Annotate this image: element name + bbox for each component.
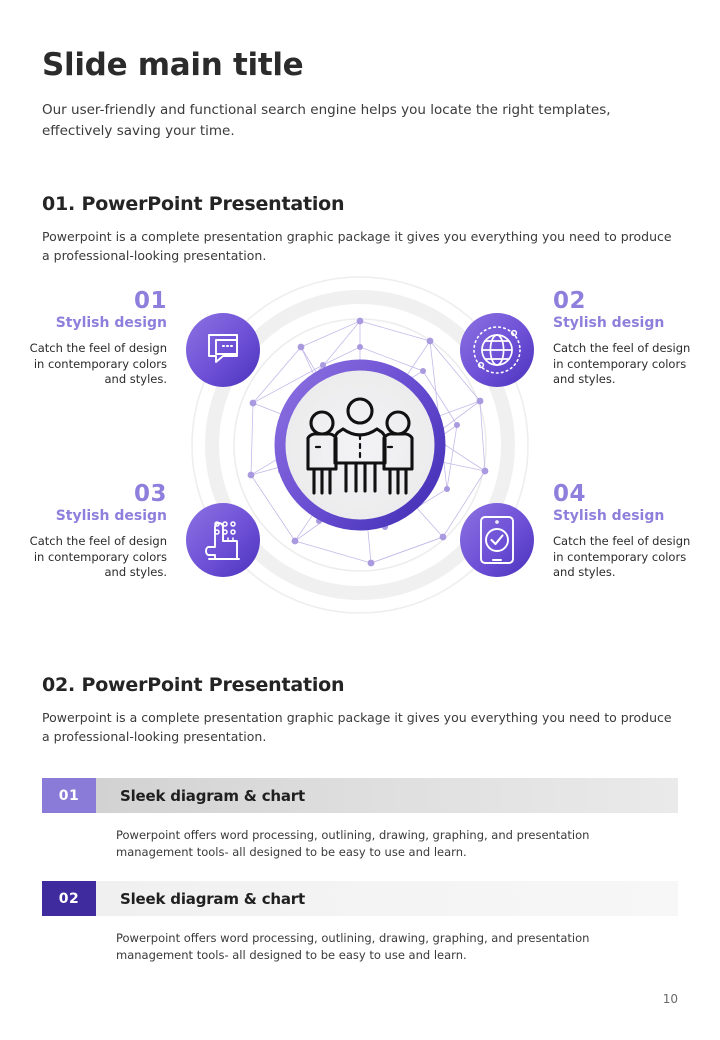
- accordion-row: 01 Sleek diagram & chart Powerpoint offe…: [42, 778, 678, 862]
- accordion-badge-01: 01: [42, 778, 96, 813]
- node-number-02: 02: [553, 289, 698, 313]
- section-heading-2: 02. PowerPoint Presentation: [42, 674, 344, 696]
- node-body-04: Catch the feel of design in contemporary…: [553, 534, 698, 580]
- section-heading-1: 01. PowerPoint Presentation: [42, 193, 344, 215]
- circular-infographic: 01 Stylish design Catch the feel of desi…: [0, 275, 720, 620]
- node-subtitle-04: Stylish design: [553, 507, 698, 525]
- node-body-03: Catch the feel of design in contemporary…: [22, 534, 167, 580]
- node-subtitle-01: Stylish design: [22, 314, 167, 332]
- node-number-03: 03: [22, 482, 167, 506]
- section-description-2: Powerpoint is a complete presentation gr…: [42, 709, 682, 747]
- node-body-01: Catch the feel of design in contemporary…: [22, 341, 167, 387]
- node-subtitle-02: Stylish design: [553, 314, 698, 332]
- diagram-graphic: [185, 275, 535, 615]
- page-number: 10: [663, 992, 678, 1006]
- node-number-01: 01: [22, 289, 167, 313]
- node-subtitle-03: Stylish design: [22, 507, 167, 525]
- node-badge-01[interactable]: [186, 313, 260, 387]
- page-title: Slide main title: [42, 48, 303, 82]
- accordion-title-02: Sleek diagram & chart: [96, 881, 678, 916]
- node-badge-02[interactable]: [460, 313, 534, 387]
- accordion-body-01: Powerpoint offers word processing, outli…: [116, 827, 661, 862]
- node-body-02: Catch the feel of design in contemporary…: [553, 341, 698, 387]
- node-badge-03[interactable]: [186, 503, 260, 577]
- node-number-04: 04: [553, 482, 698, 506]
- accordion-header[interactable]: 01 Sleek diagram & chart: [42, 778, 678, 813]
- node-label-04: 04 Stylish design Catch the feel of desi…: [553, 482, 698, 580]
- page-subtitle: Our user-friendly and functional search …: [42, 100, 682, 142]
- node-label-03: 03 Stylish design Catch the feel of desi…: [22, 482, 167, 580]
- accordion-body-02: Powerpoint offers word processing, outli…: [116, 930, 661, 965]
- node-badge-04[interactable]: [460, 503, 534, 577]
- accordion-badge-02: 02: [42, 881, 96, 916]
- node-label-01: 01 Stylish design Catch the feel of desi…: [22, 289, 167, 387]
- accordion-header[interactable]: 02 Sleek diagram & chart: [42, 881, 678, 916]
- node-label-02: 02 Stylish design Catch the feel of desi…: [553, 289, 698, 387]
- accordion-title-01: Sleek diagram & chart: [96, 778, 678, 813]
- section-description-1: Powerpoint is a complete presentation gr…: [42, 228, 682, 266]
- accordion-row: 02 Sleek diagram & chart Powerpoint offe…: [42, 881, 678, 965]
